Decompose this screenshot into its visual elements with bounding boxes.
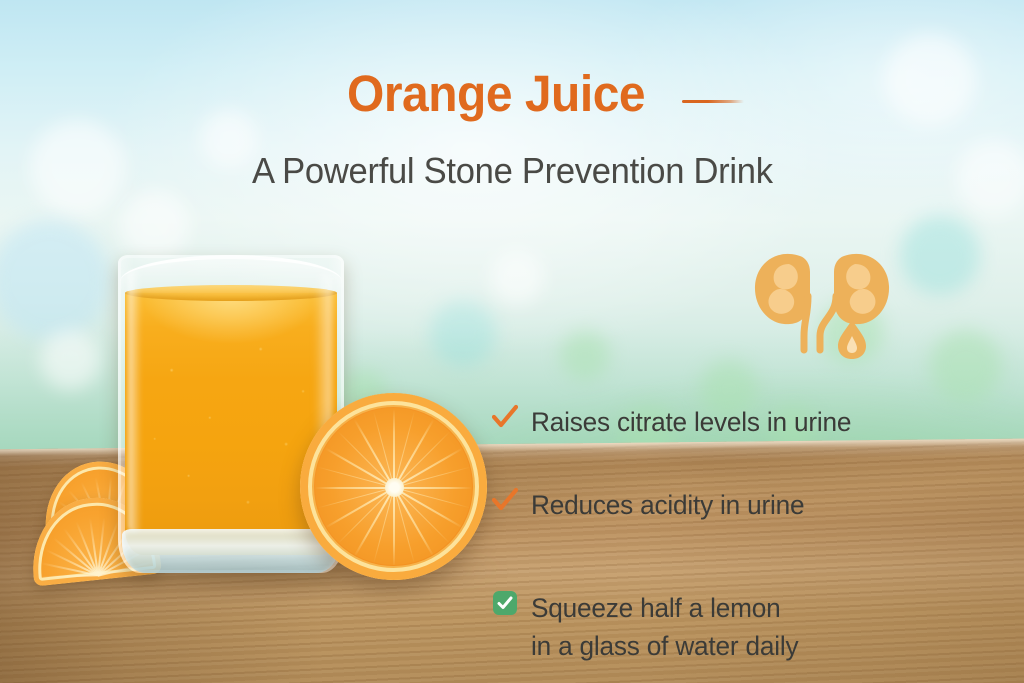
page-subtitle: A Powerful Stone Prevention Drink: [252, 150, 773, 192]
glass-highlight-left: [128, 269, 142, 533]
page-title: Orange Juice: [347, 68, 645, 119]
infographic-poster: Orange Juice A Powerful Stone Prevention…: [0, 0, 1024, 683]
glass-base: [122, 529, 340, 573]
orange-core: [385, 478, 404, 497]
list-item: Raises citrate levels in urine: [492, 402, 972, 441]
orange-flesh: [315, 408, 472, 565]
sliced-orange-half: [300, 393, 487, 580]
list-item-label: Reduces acidity in urine: [531, 485, 804, 524]
list-item-label: Raises citrate levels in urine: [531, 402, 851, 441]
check-mark-icon: [492, 485, 518, 515]
list-item: Squeeze half a lemon in a glass of water…: [492, 588, 972, 666]
list-item-label: Squeeze half a lemon in a glass of water…: [531, 588, 798, 666]
check-mark-icon: [492, 402, 518, 432]
list-item: Reduces acidity in urine: [492, 485, 972, 524]
checkbox-checked-icon: [492, 588, 518, 618]
title-underline-dash: [682, 100, 744, 103]
kidneys-icon: [742, 238, 902, 363]
benefits-list: Raises citrate levels in urine Reduces a…: [492, 402, 972, 665]
